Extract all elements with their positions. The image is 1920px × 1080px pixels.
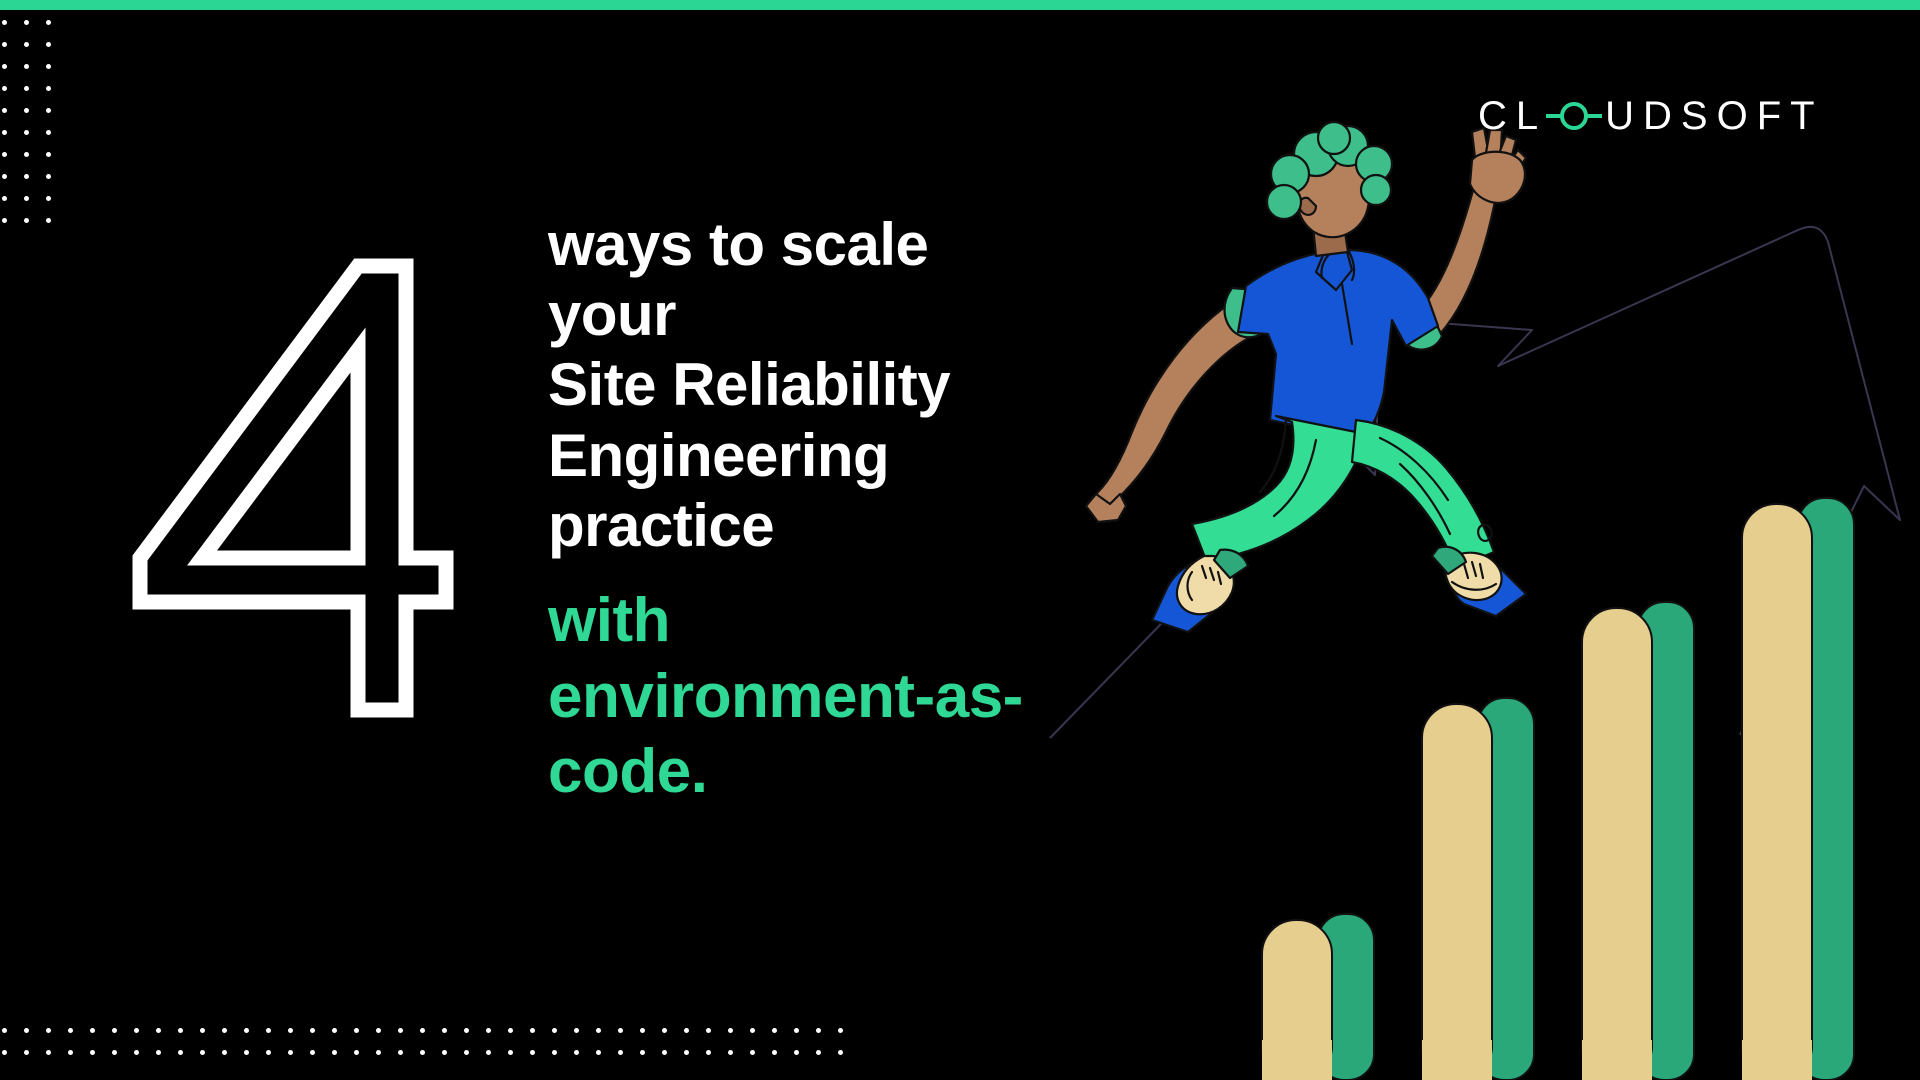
numeral-4-outline (130, 258, 550, 718)
running-person-illustration (1080, 120, 1600, 640)
left-dot-grid (0, 18, 60, 248)
bar-base (1422, 1040, 1492, 1080)
bar-base (1742, 1040, 1812, 1080)
cloudsoft-node-icon (1545, 94, 1603, 138)
top-accent-bar (0, 0, 1920, 10)
bottom-dot-grid (0, 1026, 860, 1072)
bar-base (1262, 1040, 1332, 1080)
slide-canvas: ways to scale your Site Reliability Engi… (0, 0, 1920, 1080)
cloudsoft-logo[interactable]: CL UDSOFT (1478, 92, 1824, 140)
bar-base (1582, 1040, 1652, 1080)
bar-3 (1582, 608, 1652, 1080)
logo-letters-after: UDSOFT (1605, 96, 1823, 136)
headline-main-text: ways to scale your Site Reliability Engi… (548, 210, 1148, 561)
bar-4 (1742, 504, 1812, 1080)
headline-block: ways to scale your Site Reliability Engi… (548, 210, 1148, 810)
bar-2 (1422, 704, 1492, 1080)
logo-letters-before: CL (1478, 96, 1547, 136)
headline-accent-text: with environment-as-code. (548, 583, 1148, 810)
